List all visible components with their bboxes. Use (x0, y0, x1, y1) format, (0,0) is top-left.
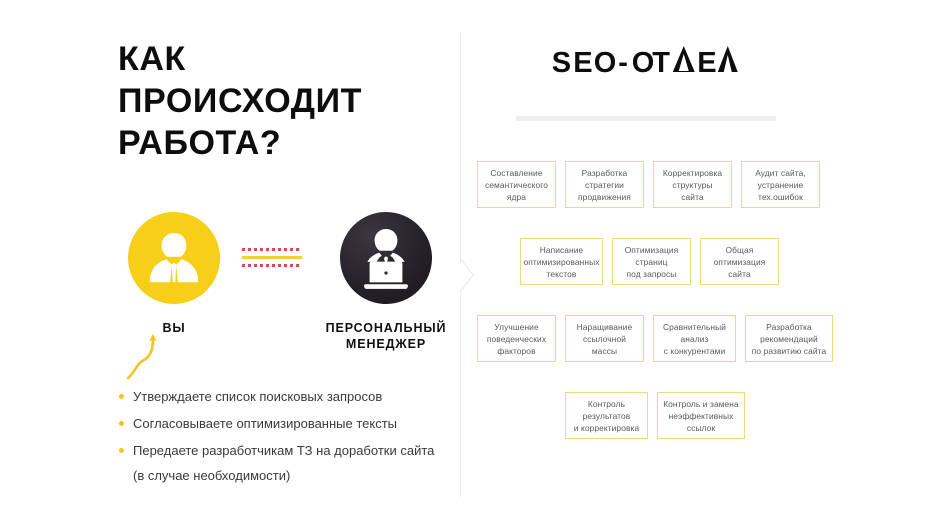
manager-label-line-2: МЕНЕДЖЕР (346, 337, 426, 351)
task-line: поведенческих (487, 333, 546, 345)
task-line: Контроль и замена (663, 398, 739, 410)
bullet-dot-icon (119, 394, 124, 399)
task-line: результатов (574, 410, 639, 422)
bullet-dot-icon (119, 448, 124, 453)
list-item-text: Передаете разработчикам ТЗ на доработки … (133, 443, 434, 458)
manager-laptop-icon (340, 212, 432, 304)
manager-label-line-1: ПЕРСОНАЛЬНЫЙ (326, 321, 447, 335)
seo-tasks-grid: Составление семантического ядра Разработ… (477, 161, 837, 469)
task-line: под запросы (625, 268, 679, 280)
seo-department-title: SEO-ОТЕ (476, 40, 816, 80)
list-item: Передаете разработчикам ТЗ на доработки … (118, 440, 458, 487)
task-line: структуры (663, 179, 722, 191)
task-line: с конкурентами (663, 345, 726, 357)
task-line: Улучшение (487, 321, 546, 333)
task-line: неэффективных (663, 410, 739, 422)
task-line: факторов (487, 345, 546, 357)
task-line: устранение (755, 179, 806, 191)
task-card: Наращивание ссылочной массы (565, 315, 644, 362)
seo-otdel-wordmark: SEO-ОТЕ (476, 40, 816, 80)
slide-canvas: КАК ПРОИСХОДИТ РАБОТА? (0, 0, 940, 529)
task-line: Оптимизация (625, 244, 679, 256)
task-line: ссылочной (577, 333, 633, 345)
task-line: Сравнительный (663, 321, 726, 333)
task-line: Корректировка (663, 167, 722, 179)
list-item-subtext: (в случае необходимости) (133, 465, 458, 487)
svg-text:S: S (552, 47, 573, 79)
task-card: Оптимизация страниц под запросы (612, 238, 691, 285)
task-line: страниц (625, 256, 679, 268)
task-card: Разработка стратегии продвижения (565, 161, 644, 208)
task-card: Написание оптимизированных текстов (520, 238, 603, 285)
task-line: стратегии (578, 179, 631, 191)
task-line: Составление (485, 167, 548, 179)
bullet-dot-icon (119, 421, 124, 426)
client-tasks-list: Утверждаете список поисковых запросов Со… (118, 386, 458, 492)
task-card: Сравнительный анализ с конкурентами (653, 315, 736, 362)
task-row-1: Составление семантического ядра Разработ… (477, 161, 837, 208)
connector-dash-bottom (242, 264, 302, 267)
task-line: Написание (523, 244, 599, 256)
task-card: Составление семантического ядра (477, 161, 556, 208)
page-title: КАК ПРОИСХОДИТ РАБОТА? (118, 38, 448, 164)
list-item: Утверждаете список поисковых запросов (118, 386, 458, 408)
curved-arrow-icon (126, 332, 182, 382)
task-line: ядра (485, 191, 548, 203)
task-line: семантического (485, 179, 548, 191)
task-line: оптимизированных (523, 256, 599, 268)
svg-text:Т: Т (652, 47, 671, 79)
connector-solid-line (242, 256, 302, 259)
svg-text:O: O (594, 47, 618, 79)
task-line: массы (577, 345, 633, 357)
list-item: Согласовываете оптимизированные тексты (118, 413, 458, 435)
headline-line-1: КАК (118, 38, 448, 80)
manager-label: ПЕРСОНАЛЬНЫЙ МЕНЕДЖЕР (300, 320, 472, 352)
headline-line-2: ПРОИСХОДИТ (118, 80, 448, 122)
svg-text:-: - (618, 47, 629, 79)
task-line: сайта (663, 191, 722, 203)
task-card: Контроль результатов и корректировка (565, 392, 648, 439)
task-row-3: Улучшение поведенческих факторов Наращив… (477, 315, 837, 362)
title-underline-bar (516, 116, 776, 121)
task-line: ссылок (663, 422, 739, 434)
task-line: анализ (663, 333, 726, 345)
connector-dash-top (242, 248, 302, 251)
list-item-text: Утверждаете список поисковых запросов (133, 389, 382, 404)
task-line: Аудит сайта, (755, 167, 806, 179)
task-line: Разработка (578, 167, 631, 179)
task-line: Общая (714, 244, 766, 256)
task-row-2: Написание оптимизированных текстов Оптим… (477, 238, 837, 285)
task-line: сайта (714, 268, 766, 280)
task-card: Аудит сайта, устранение тех.ошибок (741, 161, 820, 208)
task-line: Наращивание (577, 321, 633, 333)
task-line: тех.ошибок (755, 191, 806, 203)
task-card: Улучшение поведенческих факторов (477, 315, 556, 362)
task-card: Разработка рекомендаций по развитию сайт… (745, 315, 833, 362)
task-line: продвижения (578, 191, 631, 203)
user-avatar-icon (128, 212, 220, 304)
task-card: Корректировка структуры сайта (653, 161, 732, 208)
task-line: текстов (523, 268, 599, 280)
task-row-4: Контроль результатов и корректировка Кон… (477, 392, 837, 439)
task-line: по развитию сайта (752, 345, 826, 357)
chevron-right-icon (460, 258, 474, 292)
panel-divider-top (460, 32, 461, 264)
task-line: Разработка (752, 321, 826, 333)
task-line: рекомендаций (752, 333, 826, 345)
list-item-text: Согласовываете оптимизированные тексты (133, 416, 397, 431)
dashed-connector-icon (242, 248, 302, 270)
task-line: и корректировка (574, 422, 639, 434)
task-card: Общая оптимизация сайта (700, 238, 779, 285)
headline-line-3: РАБОТА? (118, 122, 448, 164)
task-line: Контроль (574, 398, 639, 410)
svg-text:E: E (573, 47, 594, 79)
task-line: оптимизация (714, 256, 766, 268)
task-card: Контроль и замена неэффективных ссылок (657, 392, 745, 439)
svg-text:Е: Е (697, 47, 718, 79)
